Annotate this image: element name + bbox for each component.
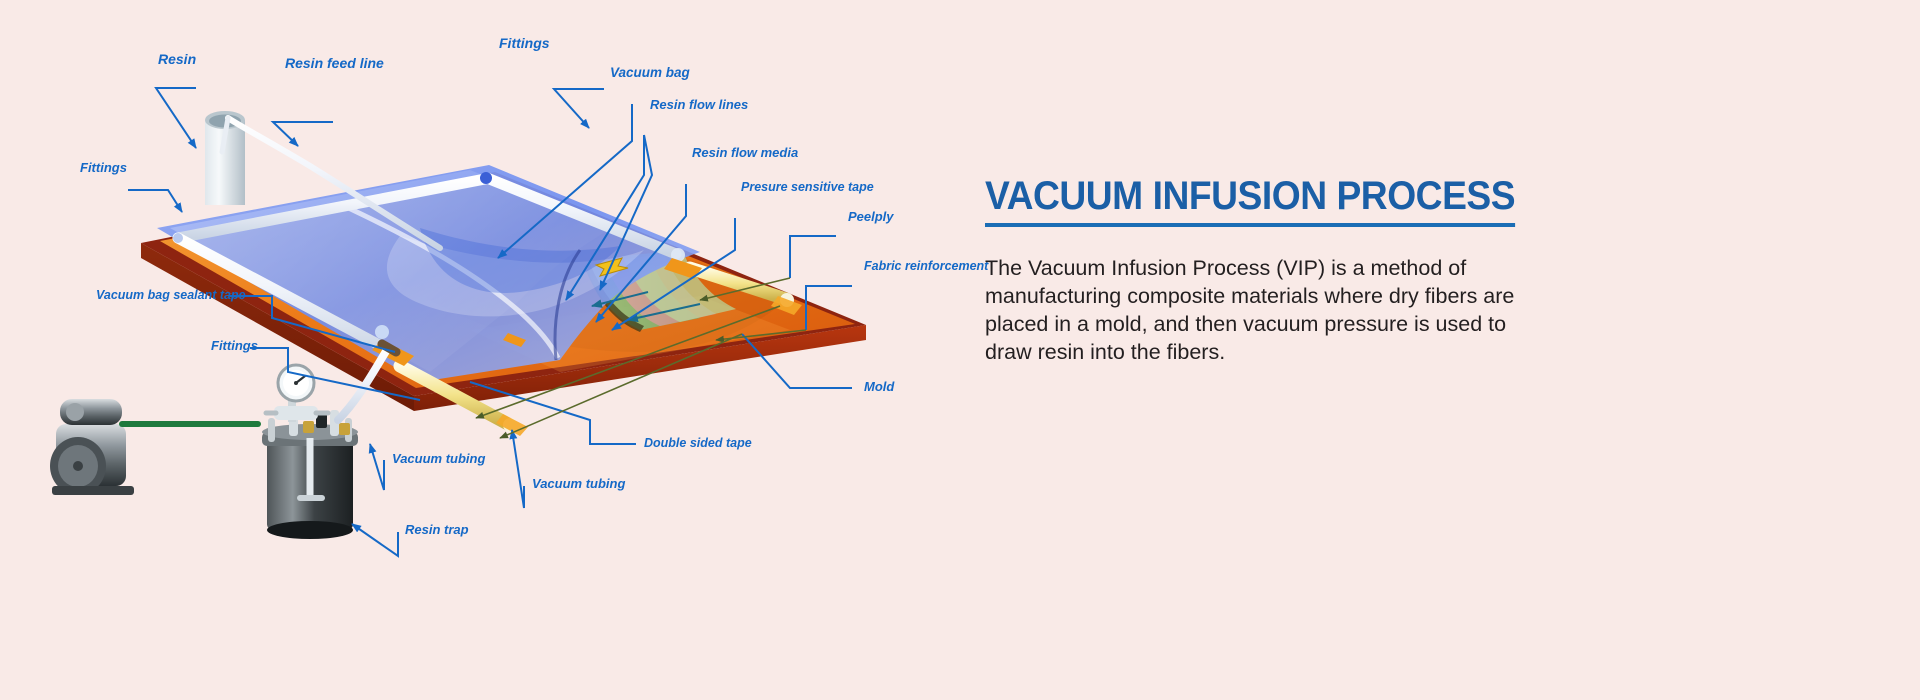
vacuum-infusion-diagram: Resin Resin feed line Fittings Vacuum ba… bbox=[0, 0, 1000, 700]
pump-head-cap bbox=[66, 403, 84, 421]
fitting-corner-left bbox=[173, 233, 183, 243]
leader-resin-trap bbox=[352, 524, 398, 556]
callout-mold: Mold bbox=[864, 379, 895, 394]
callout-vacuum-bag: Vacuum bag bbox=[610, 65, 691, 80]
callout-resin: Resin bbox=[158, 51, 196, 67]
callout-vacuum-tubing-left: Vacuum tubing bbox=[392, 451, 485, 466]
description-paragraph: The Vacuum Infusion Process (VIP) is a m… bbox=[985, 255, 1520, 367]
callout-resin-trap: Resin trap bbox=[405, 522, 469, 537]
manifold-body bbox=[274, 406, 318, 420]
callout-fittings-lower-left: Fittings bbox=[211, 338, 258, 353]
callout-double-sided-tape: Double sided tape bbox=[644, 436, 752, 450]
resin-trap-fitting-a bbox=[303, 421, 314, 433]
callout-resin-flow-lines: Resin flow lines bbox=[650, 97, 748, 112]
vacuum-pump bbox=[50, 399, 258, 495]
callout-fittings-left: Fittings bbox=[80, 160, 127, 175]
leader-peelply bbox=[790, 236, 836, 278]
callout-vacuum-bag-sealant-tape: Vacuum bag sealant tape bbox=[96, 288, 246, 302]
page-title: VACUUM INFUSION PROCESS bbox=[985, 175, 1515, 227]
leader-resin bbox=[156, 88, 196, 148]
callout-vacuum-tubing-right: Vacuum tubing bbox=[532, 476, 625, 491]
leader-resin-feed-line bbox=[273, 122, 333, 146]
leader-vacuum-tubing-right bbox=[512, 430, 524, 508]
fitting-front-left bbox=[375, 325, 389, 339]
callout-fittings-top: Fittings bbox=[499, 35, 550, 51]
pump-foot bbox=[52, 486, 134, 495]
callout-resin-feed-line: Resin feed line bbox=[285, 55, 384, 71]
text-panel: VACUUM INFUSION PROCESS The Vacuum Infus… bbox=[985, 175, 1545, 388]
leader-fittings-left bbox=[128, 190, 182, 212]
resin-trap bbox=[262, 344, 396, 539]
resin-trap-base bbox=[267, 521, 353, 539]
callout-peelply: Peelply bbox=[848, 209, 894, 224]
leader-fittings-top bbox=[554, 89, 604, 128]
callout-resin-flow-media: Resin flow media bbox=[692, 145, 798, 160]
pump-fan-hub bbox=[73, 461, 83, 471]
callout-presure-sensitive-tape: Presure sensitive tape bbox=[741, 180, 874, 194]
fitting-corner-top bbox=[480, 172, 492, 184]
resin-trap-fitting-b bbox=[339, 423, 350, 435]
resin-trap-clamp-left bbox=[268, 418, 275, 442]
leader-vacuum-tubing-left bbox=[370, 444, 384, 490]
callout-fabric-reinforcement: Fabric reinforcement bbox=[864, 259, 989, 273]
infographic-canvas: Resin Resin feed line Fittings Vacuum ba… bbox=[0, 0, 1920, 700]
pressure-gauge-pivot bbox=[294, 381, 298, 385]
